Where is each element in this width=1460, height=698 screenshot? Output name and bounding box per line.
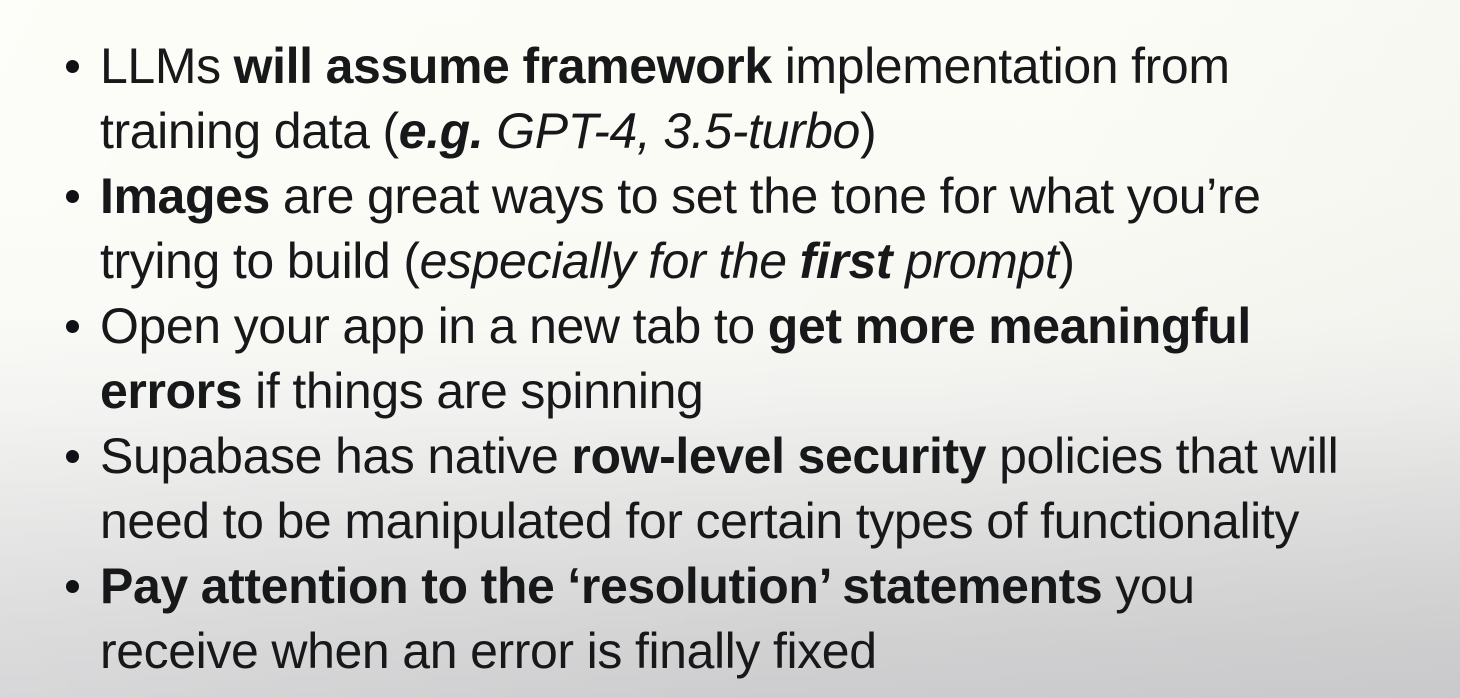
text-run: implementation from	[772, 38, 1230, 94]
text-run: Pay attention to the ‘resolution’ statem…	[100, 558, 1102, 614]
bullet-line: Supabase has native row-level security p…	[100, 424, 1442, 489]
text-run: Supabase has native	[100, 428, 571, 484]
text-run: if things are spinning	[242, 363, 703, 419]
bullet-line: LLMs will assume framework implementatio…	[100, 34, 1442, 99]
bullet-dot-icon	[66, 190, 79, 203]
bullet-list: LLMs will assume framework implementatio…	[0, 0, 1460, 684]
bullet-open-app-new-tab: Open your app in a new tab to get more m…	[0, 294, 1460, 424]
text-run: are great ways to set the tone for what …	[270, 168, 1261, 224]
text-run: )	[1058, 233, 1074, 289]
text-run: trying to build (	[100, 233, 420, 289]
bullet-line: need to be manipulated for certain types…	[100, 489, 1442, 554]
text-run: especially for the	[420, 233, 800, 289]
bullet-dot-icon	[66, 580, 79, 593]
bullet-dot-icon	[66, 60, 79, 73]
bullet-line: training data (e.g. GPT-4, 3.5-turbo)	[100, 99, 1442, 164]
bullet-line: errors if things are spinning	[100, 359, 1442, 424]
text-run: GPT-4, 3.5-turbo	[483, 103, 860, 159]
text-run: get more meaningful	[768, 298, 1251, 354]
bullet-line: Images are great ways to set the tone fo…	[100, 164, 1442, 229]
text-run: training data (	[100, 103, 399, 159]
text-run: LLMs	[100, 38, 234, 94]
text-run: first	[800, 233, 892, 289]
text-run: receive when an error is finally fixed	[100, 623, 877, 679]
bullet-dot-icon	[66, 320, 79, 333]
bullet-dot-icon	[66, 450, 79, 463]
slide-canvas: LLMs will assume framework implementatio…	[0, 0, 1460, 698]
bullet-line: Pay attention to the ‘resolution’ statem…	[100, 554, 1442, 619]
text-run: row-level security	[571, 428, 986, 484]
text-run: need to be manipulated for certain types…	[100, 493, 1299, 549]
text-run: policies that will	[986, 428, 1338, 484]
text-run: )	[860, 103, 876, 159]
text-run: errors	[100, 363, 242, 419]
bullet-line: Open your app in a new tab to get more m…	[100, 294, 1442, 359]
bullet-supabase-row-level-security: Supabase has native row-level security p…	[0, 424, 1460, 554]
bullet-line: trying to build (especially for the firs…	[100, 229, 1442, 294]
text-run: you	[1102, 558, 1194, 614]
bullet-llm-framework-assumption: LLMs will assume framework implementatio…	[0, 34, 1460, 164]
bullet-resolution-statements: Pay attention to the ‘resolution’ statem…	[0, 554, 1460, 684]
text-run: prompt	[892, 233, 1058, 289]
text-run: Images	[100, 168, 270, 224]
bullet-images-set-tone: Images are great ways to set the tone fo…	[0, 164, 1460, 294]
bullet-line: receive when an error is finally fixed	[100, 619, 1442, 684]
text-run: e.g.	[399, 103, 484, 159]
text-run: Open your app in a new tab to	[100, 298, 768, 354]
text-run: will assume framework	[234, 38, 772, 94]
